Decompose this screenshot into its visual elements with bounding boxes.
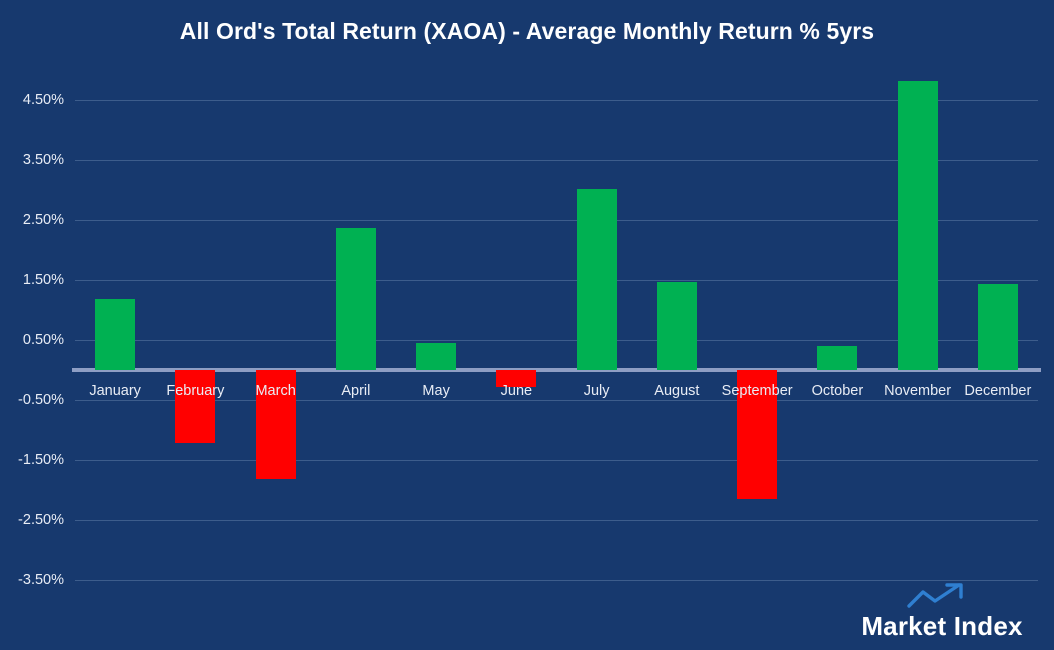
y-axis-tick-label: 2.50% [0,212,64,228]
bar-may[interactable] [416,343,456,370]
y-axis-tick-label: -1.50% [0,452,64,468]
y-axis-tick-label: 0.50% [0,332,64,348]
bar-august[interactable] [657,282,697,370]
gridline [75,580,1038,581]
x-axis-tick-label: March [255,383,295,399]
trend-up-arrow-icon [905,582,979,610]
x-axis-tick-label: June [501,383,532,399]
x-axis-tick-label: December [964,383,1031,399]
bar-july[interactable] [577,189,617,370]
bar-january[interactable] [95,299,135,370]
x-axis-tick-label: January [89,383,141,399]
y-axis-tick-label: 1.50% [0,272,64,288]
y-axis-tick-label: 4.50% [0,92,64,108]
bar-december[interactable] [978,284,1018,370]
gridline [75,460,1038,461]
zero-axis-line [72,368,1041,372]
y-axis-tick-label: 3.50% [0,152,64,168]
bar-october[interactable] [817,346,857,370]
chart-title: All Ord's Total Return (XAOA) - Average … [0,18,1054,45]
brand-logo: Market Index [842,582,1042,642]
gridline [75,160,1038,161]
x-axis-tick-label: August [654,383,699,399]
x-axis-tick-label: October [812,383,864,399]
y-axis-tick-label: -2.50% [0,512,64,528]
gridline [75,280,1038,281]
y-axis-tick-label: -0.50% [0,392,64,408]
gridline [75,220,1038,221]
chart-page: All Ord's Total Return (XAOA) - Average … [0,0,1054,650]
gridline [75,400,1038,401]
bar-april[interactable] [336,228,376,370]
x-axis-tick-label: September [722,383,793,399]
plot-area: JanuaryFebruaryMarchAprilMayJuneJulyAugu… [75,60,1038,590]
bar-november[interactable] [898,81,938,370]
x-axis-tick-label: November [884,383,951,399]
x-axis-tick-label: February [166,383,224,399]
gridline [75,100,1038,101]
x-axis-tick-label: May [422,383,449,399]
y-axis-tick-label: -3.50% [0,572,64,588]
gridline [75,340,1038,341]
bar-february[interactable] [175,370,215,443]
brand-name: Market Index [842,611,1042,642]
x-axis-tick-label: July [584,383,610,399]
gridline [75,520,1038,521]
x-axis-tick-label: April [341,383,370,399]
